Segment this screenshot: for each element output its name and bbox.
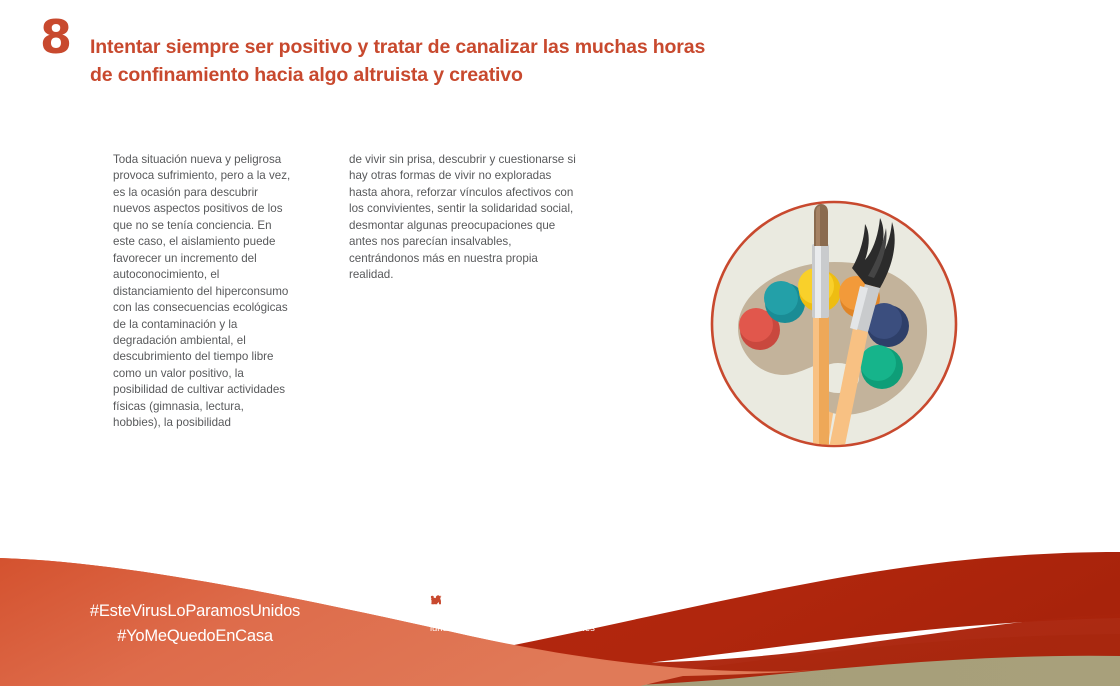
- hashtag-este-virus-lo-paramos-unidos: #EsteVirusLoParamosUnidos: [30, 599, 360, 624]
- text-column-right-paragraph: de vivir sin prisa, descubrir y cuestion…: [349, 152, 581, 284]
- linkedin-name-label[interactable]: Lundbeck España: [579, 597, 670, 609]
- slide-footer: #EsteVirusLoParamosUnidos #YoMeQuedoEnCa…: [0, 526, 1120, 686]
- campaign-hashtags: #EsteVirusLoParamosUnidos #YoMeQuedoEnCa…: [30, 599, 360, 649]
- paint-brush-brown: [812, 204, 829, 450]
- hashtag-yo-me-quedo-en-casa: #YoMeQuedoEnCasa: [30, 624, 360, 649]
- footer-content: #EsteVirusLoParamosUnidos #YoMeQuedoEnCa…: [0, 526, 1120, 686]
- social-links-row: @LundbeckES Lundbeck España: [430, 594, 730, 612]
- footer-website-links[interactable]: lundbeck.com/es | rethinkdepression.es: [430, 623, 730, 634]
- linkedin-icon[interactable]: [554, 594, 572, 612]
- slide-header: 8 Intentar siempre ser positivo y tratar…: [0, 0, 1120, 110]
- text-column-left: Toda situación nueva y peligrosa provoca…: [113, 152, 291, 432]
- page-title-line-2: de confinamiento hacia algo altruista y …: [90, 61, 890, 89]
- page-title-line-1: Intentar siempre ser positivo y tratar d…: [90, 33, 890, 61]
- twitter-handle-label[interactable]: @LundbeckES: [455, 597, 531, 609]
- page-title: Intentar siempre ser positivo y tratar d…: [90, 33, 890, 90]
- text-column-right: de vivir sin prisa, descubrir y cuestion…: [349, 152, 581, 284]
- slide-number: 8: [40, 14, 71, 60]
- paint-palette-illustration: [708, 198, 960, 450]
- text-column-left-paragraph: Toda situación nueva y peligrosa provoca…: [113, 152, 291, 432]
